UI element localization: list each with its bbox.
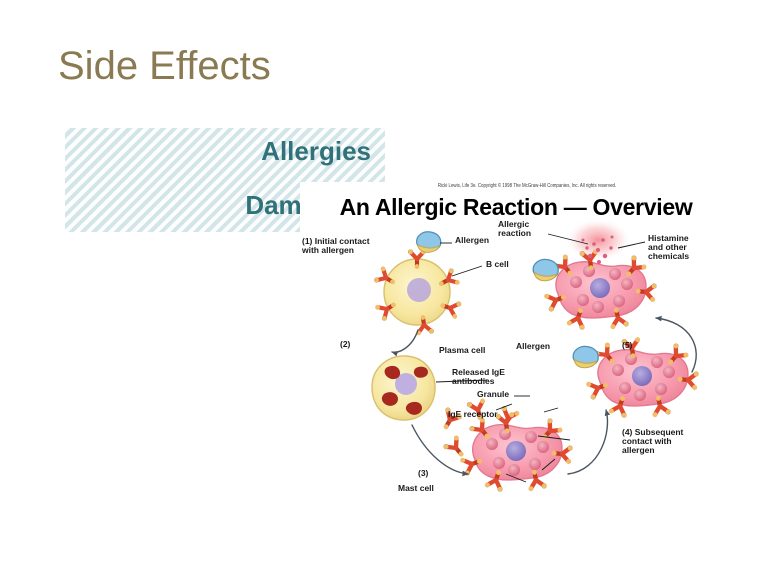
figure-label-histamine: Histamine and other chemicals <box>648 234 689 261</box>
slide-canvas: Side Effects Allergies Damaging Ricki Le… <box>0 0 768 561</box>
figure-label-ige-receptor: IgE receptor <box>448 410 498 419</box>
page-title: Side Effects <box>58 44 271 89</box>
sensitized-mast-cell-graphic <box>573 337 699 418</box>
mast-cell-graphic <box>459 412 572 492</box>
figure-step-4: (4) Subsequent contact with allergen <box>622 428 683 455</box>
plasma-cell-graphic <box>372 356 435 420</box>
figure-label-b-cell: B cell <box>486 260 509 269</box>
figure-label-mast-cell: Mast cell <box>398 484 434 493</box>
figure-step-1: (1) Initial contact with allergen <box>302 237 370 255</box>
figure-label-allergen-top: Allergen <box>455 236 489 245</box>
allergic-reaction-figure: Ricki Lewis, Life 3e. Copyright © 1998 T… <box>300 182 732 512</box>
figure-label-allergic-reaction: Allergic reaction <box>498 220 531 238</box>
figure-label-allergen-mid: Allergen <box>516 342 550 351</box>
b-cell-graphic <box>373 232 462 336</box>
figure-label-released-ige: Released IgE antibodies <box>452 368 505 386</box>
figure-step-2: (2) <box>340 340 350 349</box>
bullet-item-allergies: Allergies <box>261 136 371 167</box>
figure-step-5: (5) <box>622 341 632 350</box>
figure-step-3: (3) <box>418 469 428 478</box>
figure-label-plasma-cell: Plasma cell <box>439 346 485 355</box>
figure-label-granule: Granule <box>477 390 509 399</box>
